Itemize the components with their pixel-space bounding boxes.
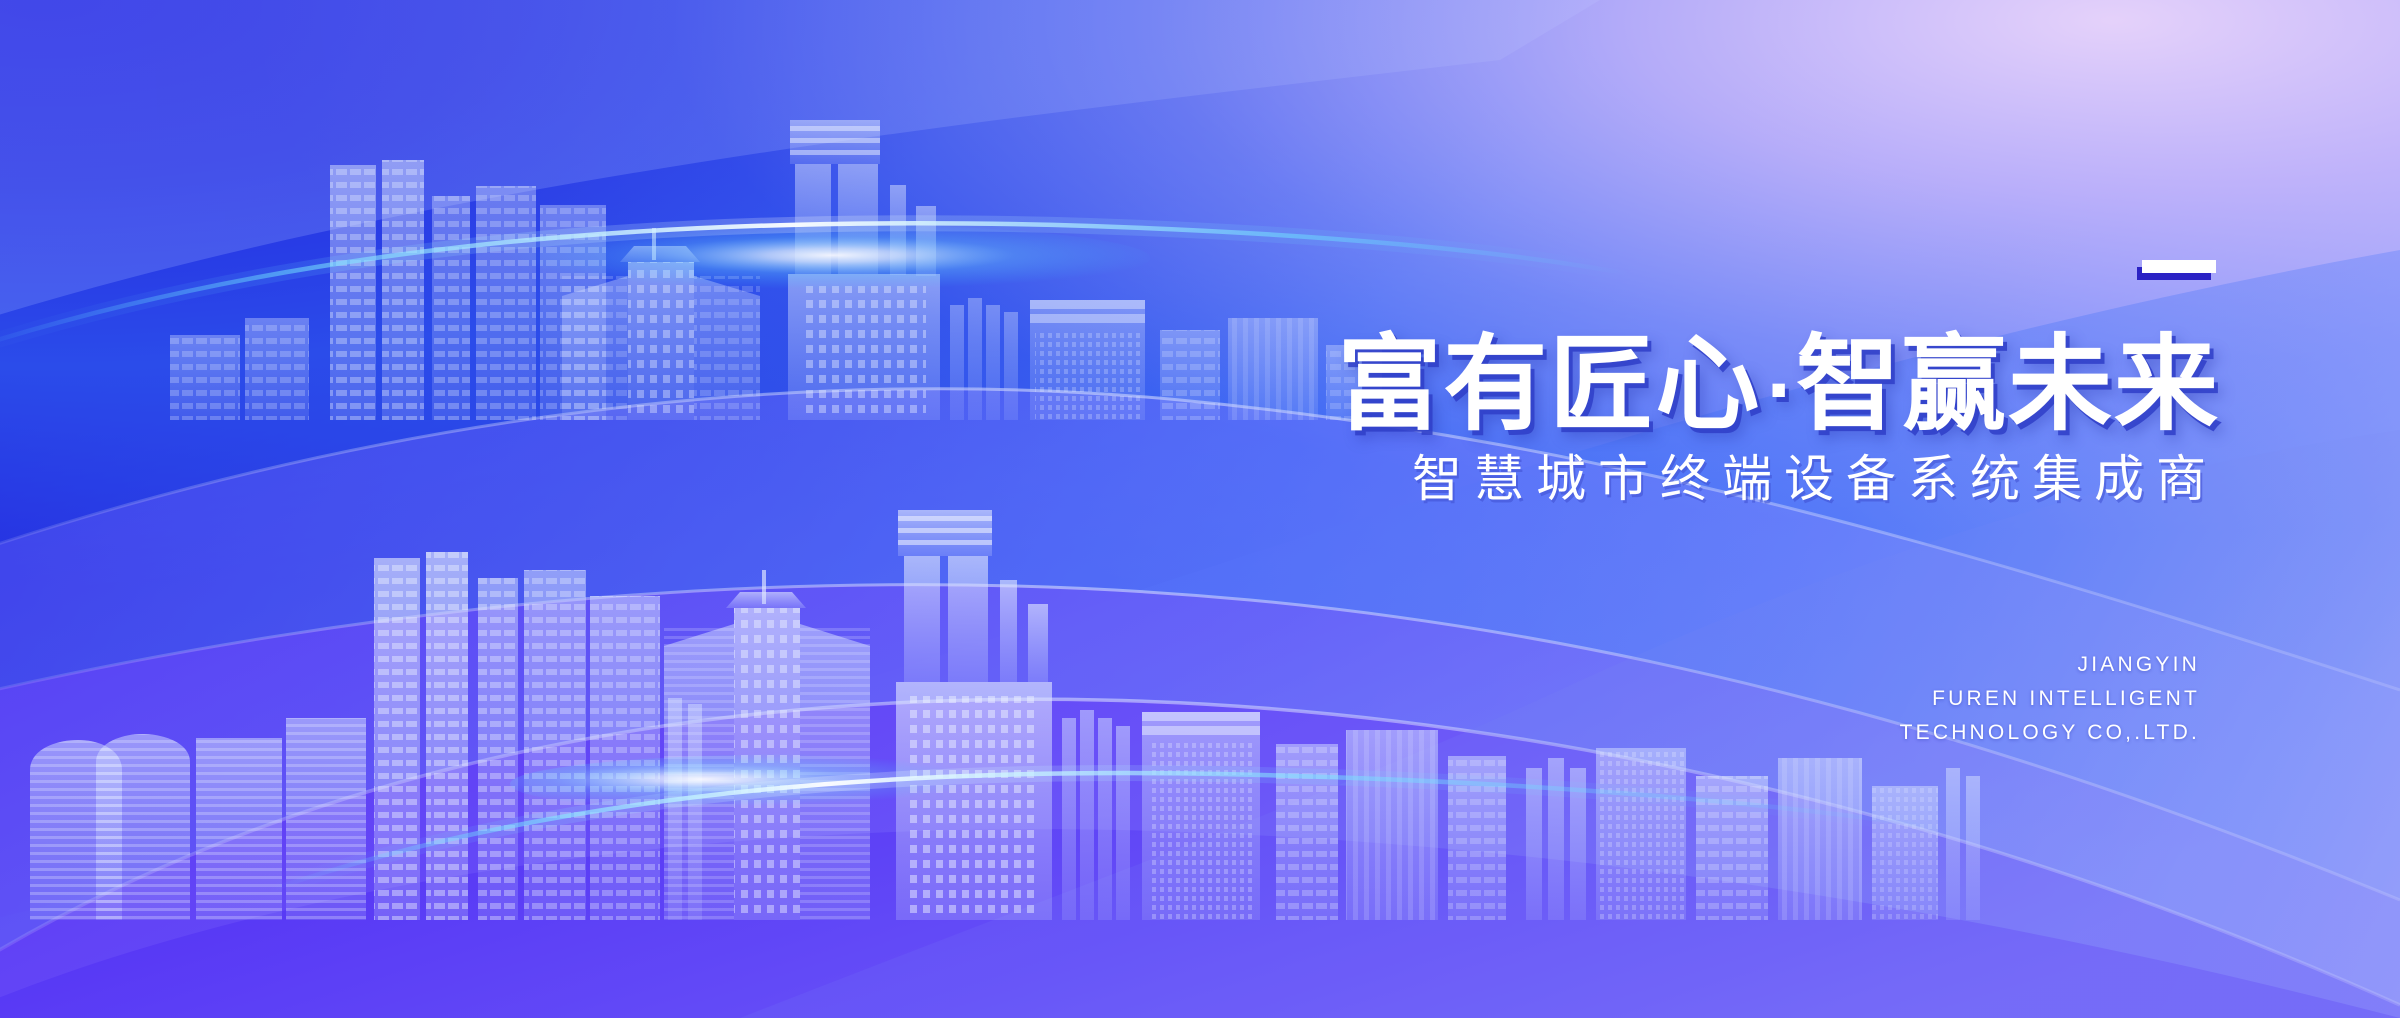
banner-canvas: 富有匠心·智赢未来 智慧城市终端设备系统集成商 JIANGYIN FUREN I… (0, 0, 2400, 1018)
skyline-lower-buildings-left (30, 510, 1980, 920)
company-line-2: FUREN INTELLIGENT (1900, 682, 2200, 716)
accent-dash-icon (2142, 260, 2216, 273)
headline-group: 富有匠心·智赢未来 智慧城市终端设备系统集成商 (1040, 260, 2220, 507)
page-title: 富有匠心·智赢未来 (1040, 330, 2220, 438)
headline-part-1: 富有匠心 (1337, 323, 1761, 445)
headline-part-2: 智赢未来 (1796, 323, 2220, 445)
company-line-1: JIANGYIN (1900, 648, 2200, 682)
company-line-3: TECHNOLOGY CO,.LTD. (1900, 716, 2200, 750)
headline-separator-dot: · (1761, 350, 1796, 432)
page-subtitle: 智慧城市终端设备系统集成商 (1040, 452, 2220, 507)
company-name-block: JIANGYIN FUREN INTELLIGENT TECHNOLOGY CO… (1900, 648, 2200, 750)
